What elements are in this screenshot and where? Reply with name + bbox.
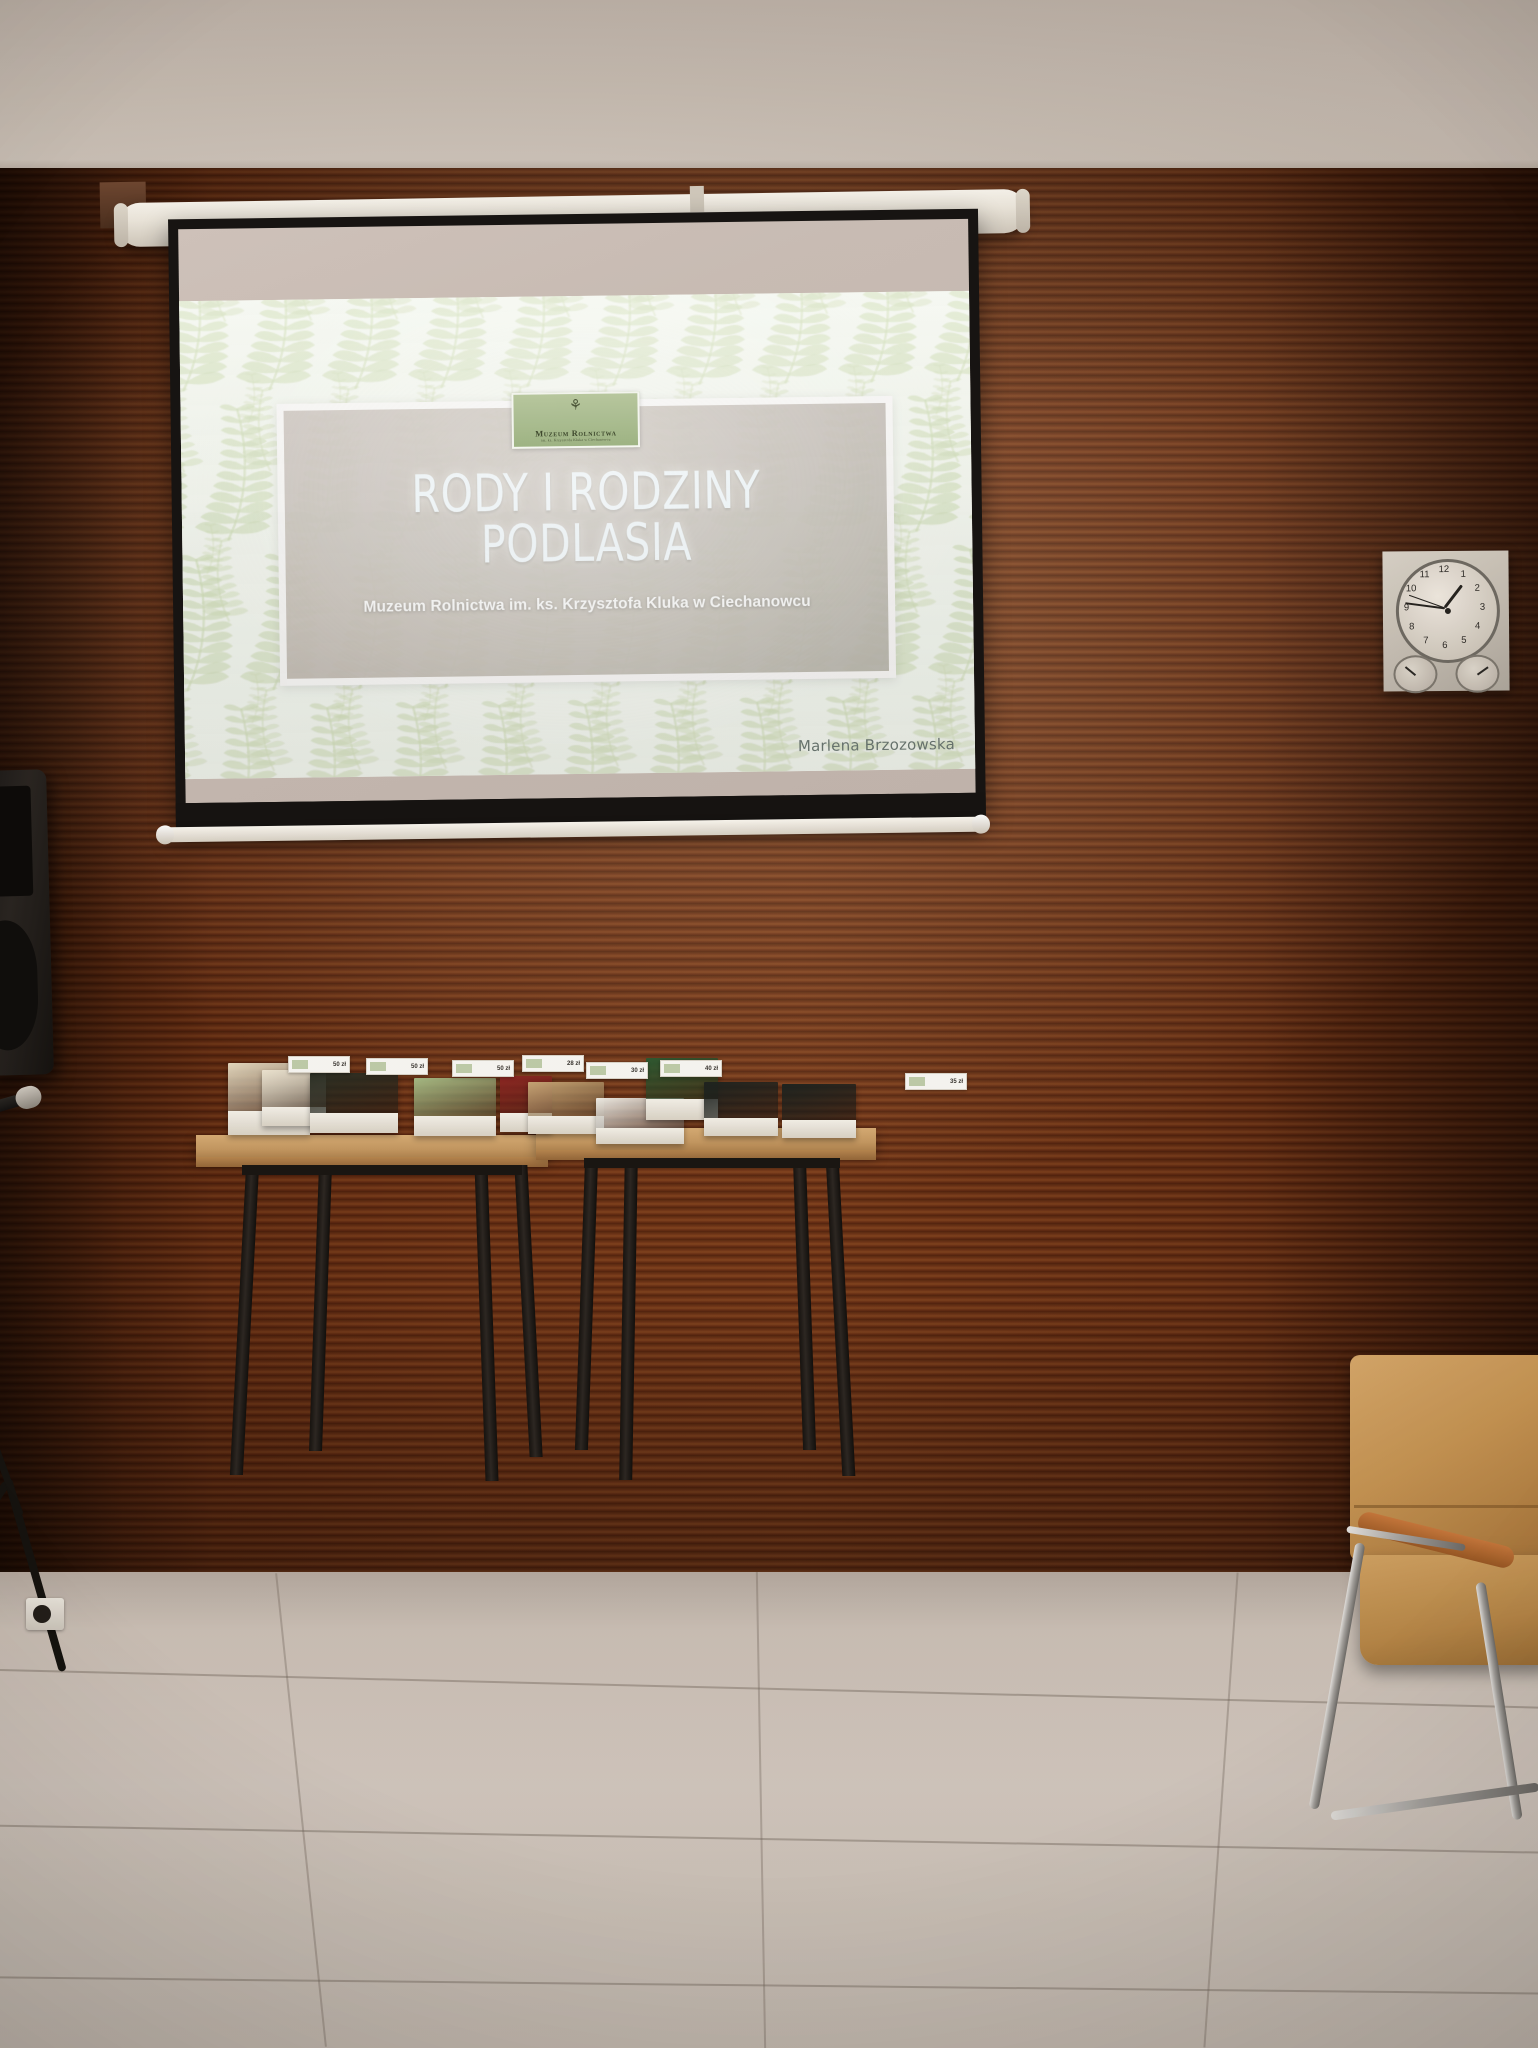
book-page-block (310, 1113, 398, 1133)
clock-hub (1445, 608, 1451, 614)
price-card: 35 zł (905, 1073, 967, 1090)
book-page-block (528, 1116, 604, 1134)
price-card-amount: 50 zł (333, 1062, 346, 1068)
hygrometer-gauge (1393, 655, 1437, 693)
price-card-logo-icon (370, 1062, 386, 1071)
price-card-logo-icon (909, 1077, 925, 1086)
clock-face: 121234567891011 (1395, 559, 1500, 664)
chair-seat (1360, 1555, 1538, 1665)
museum-logo-badge: ⚘ Muzeum Rolnictwa im. ks. Krzysztofa Kl… (511, 391, 640, 449)
museum-logo-subtext: im. ks. Krzysztofa Kluka w Ciechanowcu (541, 438, 611, 443)
price-card-logo-icon (590, 1066, 606, 1075)
screen-ceiling-hanger (690, 186, 704, 212)
table-apron (242, 1165, 522, 1175)
price-card-amount: 50 zł (497, 1066, 510, 1072)
tile-grout-line (0, 1976, 1538, 1996)
book-page-block (596, 1128, 684, 1144)
book-page-block (782, 1120, 856, 1138)
clock-numeral: 7 (1423, 635, 1428, 646)
price-card: 50 zł (366, 1058, 428, 1075)
rod-end-cap-left (156, 825, 174, 844)
speaker-horn (0, 786, 33, 897)
clock-numeral: 12 (1439, 564, 1450, 575)
slide-author-credit: Marlena Brzozowska (798, 735, 955, 755)
bw-photo-album-stack-a (704, 1082, 778, 1136)
clock-numeral: 6 (1442, 640, 1447, 651)
price-card-amount: 35 zł (950, 1079, 963, 1085)
landscape-album (414, 1078, 496, 1136)
price-card-logo-icon (664, 1064, 680, 1073)
rod-end-cap-right (972, 815, 990, 834)
tile-grout-line (275, 1573, 327, 2047)
slide-subtitle: Muzeum Rolnictwa im. ks. Krzysztofa Kluk… (363, 593, 811, 617)
visitor-chair[interactable] (1310, 1355, 1538, 1835)
clock-numeral: 8 (1409, 621, 1414, 632)
chair-frame-rail (1309, 1542, 1366, 1810)
price-card-amount: 40 zł (705, 1066, 718, 1072)
wall-clock-weather-station: 121234567891011 (1382, 550, 1509, 691)
tripod-stand (0, 1480, 140, 1690)
thermometer-gauge (1455, 655, 1499, 693)
casing-end-cap-right (1016, 189, 1031, 233)
clock-numeral: 3 (1480, 602, 1485, 613)
book-table-left (196, 1135, 548, 1169)
conference-room-photo: RODY I RODZINY PODLASIA Muzeum Rolnictwa… (0, 0, 1538, 2048)
tile-grout-line (0, 1668, 1538, 1712)
price-card: 30 zł (586, 1062, 648, 1079)
tile-grout-line (0, 1824, 1538, 1856)
slide-title-line-2: PODLASIA (412, 517, 761, 573)
clock-hour-hand (1444, 585, 1464, 609)
clock-numeral: 1 (1461, 569, 1466, 580)
dark-green-album (310, 1073, 398, 1133)
projection-screen[interactable]: RODY I RODZINY PODLASIA Muzeum Rolnictwa… (168, 209, 986, 832)
book-page-block (704, 1118, 778, 1136)
presentation-slide: RODY I RODZINY PODLASIA Muzeum Rolnictwa… (179, 291, 975, 779)
clock-numeral: 10 (1406, 583, 1417, 594)
ceiling (0, 0, 1538, 176)
hygrometer-needle (1405, 666, 1416, 676)
price-card: 28 zł (522, 1055, 584, 1072)
book-page-block (414, 1116, 496, 1136)
price-card-amount: 50 zł (411, 1064, 424, 1070)
museum-emblem-icon: ⚘ (569, 398, 583, 413)
wall-power-socket[interactable] (26, 1598, 64, 1630)
tile-grout-line (756, 1572, 766, 2048)
speaker-woofer (0, 920, 39, 1052)
bw-photo-album-stack-b (782, 1084, 856, 1138)
chair-back-seam (1354, 1505, 1538, 1508)
price-card-amount: 28 zł (567, 1061, 580, 1067)
stand-leg (0, 1480, 11, 1630)
slide-title: RODY I RODZINY PODLASIA (411, 465, 761, 572)
thermometer-needle (1477, 666, 1489, 675)
tile-floor (0, 1572, 1538, 2048)
projection-surface: RODY I RODZINY PODLASIA Muzeum Rolnictwa… (178, 219, 975, 803)
socket-hole (33, 1605, 51, 1623)
casing-end-cap-left (114, 203, 129, 247)
clock-numeral: 2 (1475, 583, 1480, 594)
price-card: 40 zł (660, 1060, 722, 1077)
price-card: 50 zł (452, 1060, 514, 1077)
table-apron (584, 1158, 840, 1168)
clock-numeral: 11 (1420, 569, 1430, 580)
price-card-logo-icon (292, 1060, 308, 1069)
price-card-logo-icon (456, 1064, 472, 1073)
windmill-cover-book (528, 1082, 604, 1134)
price-card: 50 zł (288, 1056, 350, 1073)
clock-numeral: 4 (1475, 621, 1480, 632)
clock-numeral: 5 (1461, 635, 1466, 646)
chair-frame-base (1330, 1782, 1538, 1820)
pa-speaker (0, 769, 54, 1076)
tile-grout-line (1203, 1573, 1238, 2048)
price-card-logo-icon (526, 1059, 542, 1068)
price-card-amount: 30 zł (631, 1068, 644, 1074)
